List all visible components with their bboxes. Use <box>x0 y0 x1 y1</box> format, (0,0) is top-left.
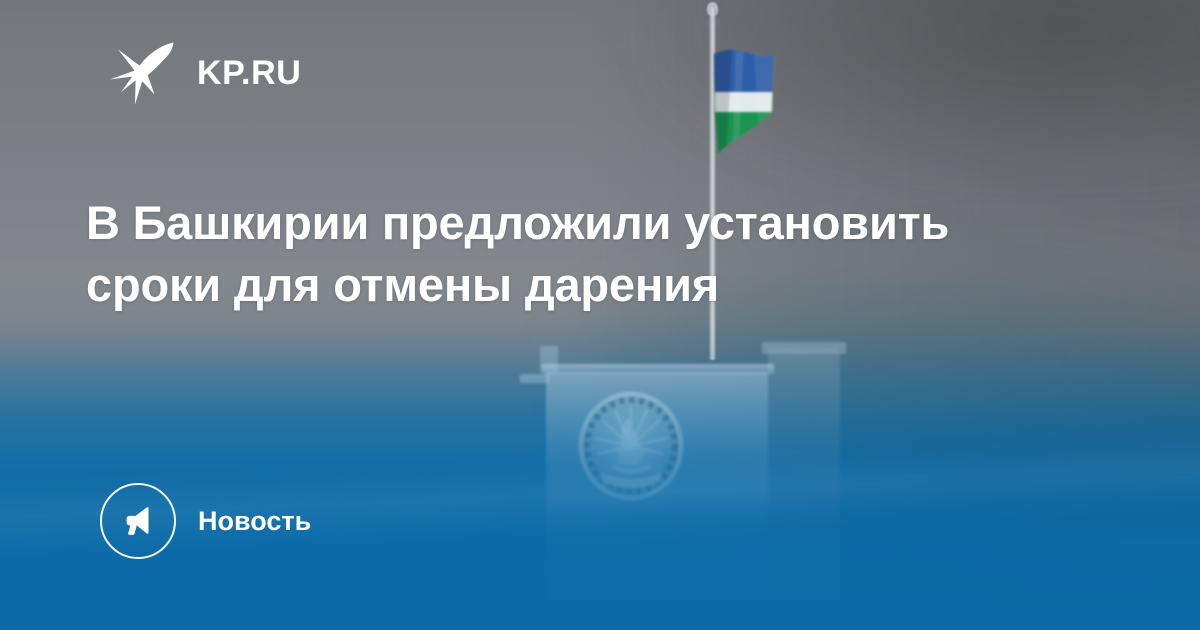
swallow-bird-logo-icon <box>107 36 179 110</box>
card-content: KP.RU В Башкирии предложили установить с… <box>0 0 1200 630</box>
megaphone-icon <box>100 483 176 559</box>
brand-name: KP.RU <box>197 56 301 90</box>
brand-lockup[interactable]: KP.RU <box>107 36 301 110</box>
news-share-card: KP.RU В Башкирии предложили установить с… <box>0 0 1200 630</box>
status-badge-label: Новость <box>198 508 311 535</box>
page-title: В Башкирии предложили установить сроки д… <box>86 192 986 316</box>
status-badge[interactable]: Новость <box>100 483 311 559</box>
